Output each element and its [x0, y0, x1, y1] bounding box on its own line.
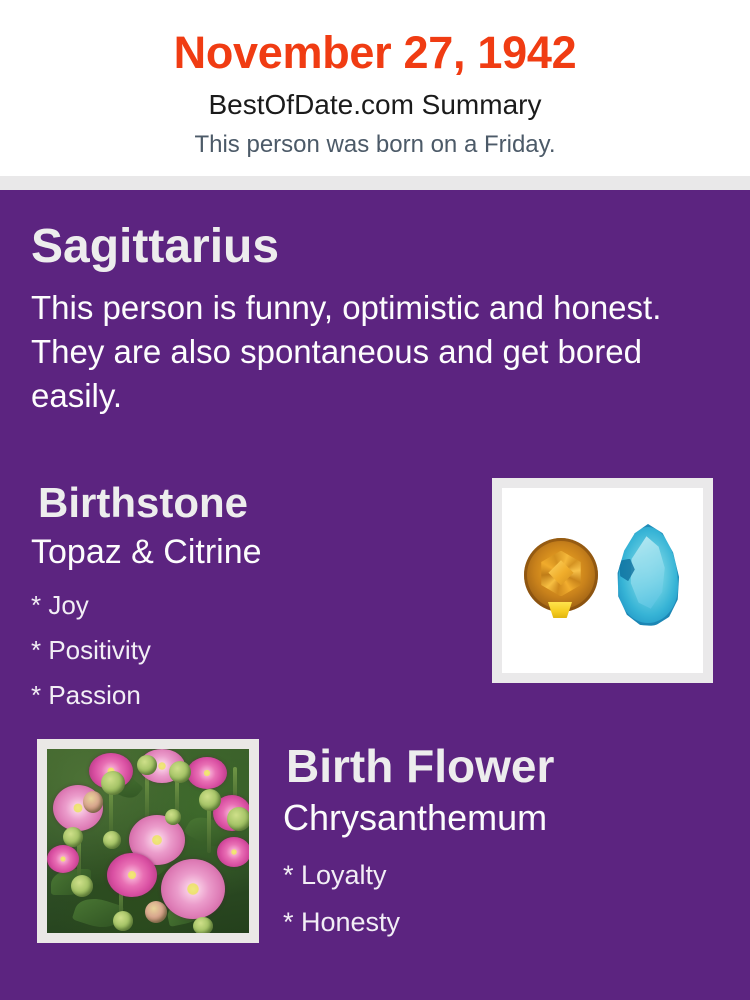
- stem-icon: [207, 805, 211, 853]
- flower-bud-icon: [71, 875, 93, 897]
- chrysanthemum-bloom-icon: [161, 859, 225, 919]
- birthstone-title: Birthstone: [38, 478, 248, 528]
- birth-flower-name: Chrysanthemum: [283, 796, 547, 840]
- flower-bud-icon: [199, 789, 221, 811]
- flower-bud-icon: [103, 831, 121, 849]
- details-panel: Sagittarius This person is funny, optimi…: [0, 190, 750, 1000]
- zodiac-description: This person is funny, optimistic and hon…: [31, 286, 723, 418]
- birthstone-trait-list: * Joy * Positivity * Passion: [31, 583, 431, 718]
- citrine-gem-tip-icon: [548, 602, 572, 618]
- list-item: * Loyalty: [283, 852, 683, 899]
- birth-flower-title: Birth Flower: [286, 738, 554, 794]
- chrysanthemum-bloom-icon: [47, 845, 79, 873]
- summary-card: November 27, 1942 BestOfDate.com Summary…: [0, 0, 750, 1000]
- header: November 27, 1942 BestOfDate.com Summary…: [0, 0, 750, 176]
- list-item: * Positivity: [31, 628, 431, 673]
- flower-bud-icon: [63, 827, 83, 847]
- birthstone-image: [502, 488, 703, 673]
- citrine-gem-icon: [524, 538, 598, 612]
- birthstone-name: Topaz & Citrine: [31, 531, 262, 573]
- birth-flower-trait-list: * Loyalty * Honesty: [283, 852, 683, 946]
- flower-bud-icon: [83, 791, 103, 813]
- flower-bud-icon: [137, 755, 157, 775]
- birthstone-image-frame: [492, 478, 713, 683]
- birth-flower-image: [47, 749, 249, 933]
- birth-flower-image-frame: [37, 739, 259, 943]
- page-title: November 27, 1942: [0, 24, 750, 82]
- list-item: * Joy: [31, 583, 431, 628]
- flower-bud-icon: [169, 761, 191, 783]
- flower-bud-icon: [193, 917, 213, 933]
- flower-bud-icon: [227, 807, 249, 831]
- flower-bud-icon: [145, 901, 167, 923]
- list-item: * Honesty: [283, 899, 683, 946]
- blue-topaz-gem-icon: [615, 524, 681, 626]
- zodiac-sign-title: Sagittarius: [31, 218, 279, 276]
- chrysanthemum-bloom-icon: [187, 757, 227, 789]
- chrysanthemum-bloom-icon: [217, 837, 249, 867]
- flower-bud-icon: [101, 771, 125, 795]
- site-summary-label: BestOfDate.com Summary: [0, 88, 750, 122]
- header-divider: [0, 176, 750, 190]
- flower-bud-icon: [165, 809, 181, 825]
- flower-bud-icon: [113, 911, 133, 931]
- list-item: * Passion: [31, 673, 431, 718]
- born-day-text: This person was born on a Friday.: [0, 130, 750, 160]
- chrysanthemum-bloom-icon: [107, 853, 157, 897]
